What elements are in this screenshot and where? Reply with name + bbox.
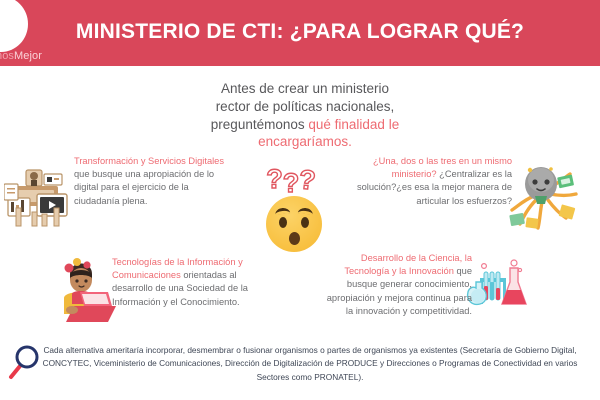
quadrant-accent-text: Transformación y Servicios Digitales bbox=[74, 156, 224, 166]
person-laptop-illustration bbox=[58, 252, 120, 326]
lead-line-3-accent: qué finalidad le bbox=[308, 117, 399, 132]
quadrant-body-text: que busque una apropiación de lo digital… bbox=[74, 169, 214, 205]
header-band: arnosMejor MINISTERIO DE CTI: ¿PARA LOGR… bbox=[0, 0, 600, 66]
lead-line-3-plain: preguntémonos bbox=[211, 117, 309, 132]
brand-wordmark: arnosMejor bbox=[0, 50, 42, 62]
emoji-eyebrow-left bbox=[275, 207, 291, 215]
question-marks-group: ??? bbox=[245, 166, 337, 193]
octopus-multitasking-illustration bbox=[508, 156, 580, 232]
surprised-face-emoji bbox=[266, 196, 322, 252]
infographic-slide: arnosMejor MINISTERIO DE CTI: ¿PARA LOGR… bbox=[0, 0, 600, 400]
emoji-mouth bbox=[289, 232, 300, 245]
lead-line-1: Antes de crear un ministerio bbox=[221, 81, 389, 96]
quadrant-transformacion-servicios-digitales: Transformación y Servicios Digitales que… bbox=[74, 155, 234, 208]
question-mark-3: ? bbox=[298, 166, 317, 195]
question-mark-1: ? bbox=[266, 164, 283, 194]
emoji-eye-left bbox=[279, 217, 287, 228]
quadrant-desarrollo-ciencia-tecnologia-innovacion: Desarrollo de la Ciencia, la Tecnología … bbox=[320, 252, 472, 318]
brand-wordmark-prefix: arnos bbox=[0, 50, 14, 62]
lead-line-4-accent: encargaríamos. bbox=[258, 134, 352, 149]
lead-statement: Antes de crear un ministerio rector de p… bbox=[150, 80, 460, 151]
emoji-eye-right bbox=[301, 217, 309, 228]
footer-note: Cada alternativa ameritaría incorporar, … bbox=[34, 344, 586, 384]
lead-line-2: rector de políticas nacionales, bbox=[216, 99, 395, 114]
quadrant-tecnologias-informacion-comunicaciones: Tecnologías de la Información y Comunica… bbox=[112, 256, 262, 309]
quadrant-un-mismo-ministerio: ¿Una, dos o las tres en un mismo ministe… bbox=[350, 155, 512, 208]
page-title: MINISTERIO DE CTI: ¿PARA LOGRAR QUÉ? bbox=[0, 20, 600, 44]
desk-workspace-illustration bbox=[4, 156, 74, 230]
brand-wordmark-suffix: Mejor bbox=[14, 50, 42, 62]
quadrant-accent-text: Desarrollo de la Ciencia, la Tecnología … bbox=[344, 253, 472, 276]
center-emoji-cluster: ??? bbox=[245, 166, 337, 262]
emoji-eyebrow-right bbox=[298, 207, 314, 215]
